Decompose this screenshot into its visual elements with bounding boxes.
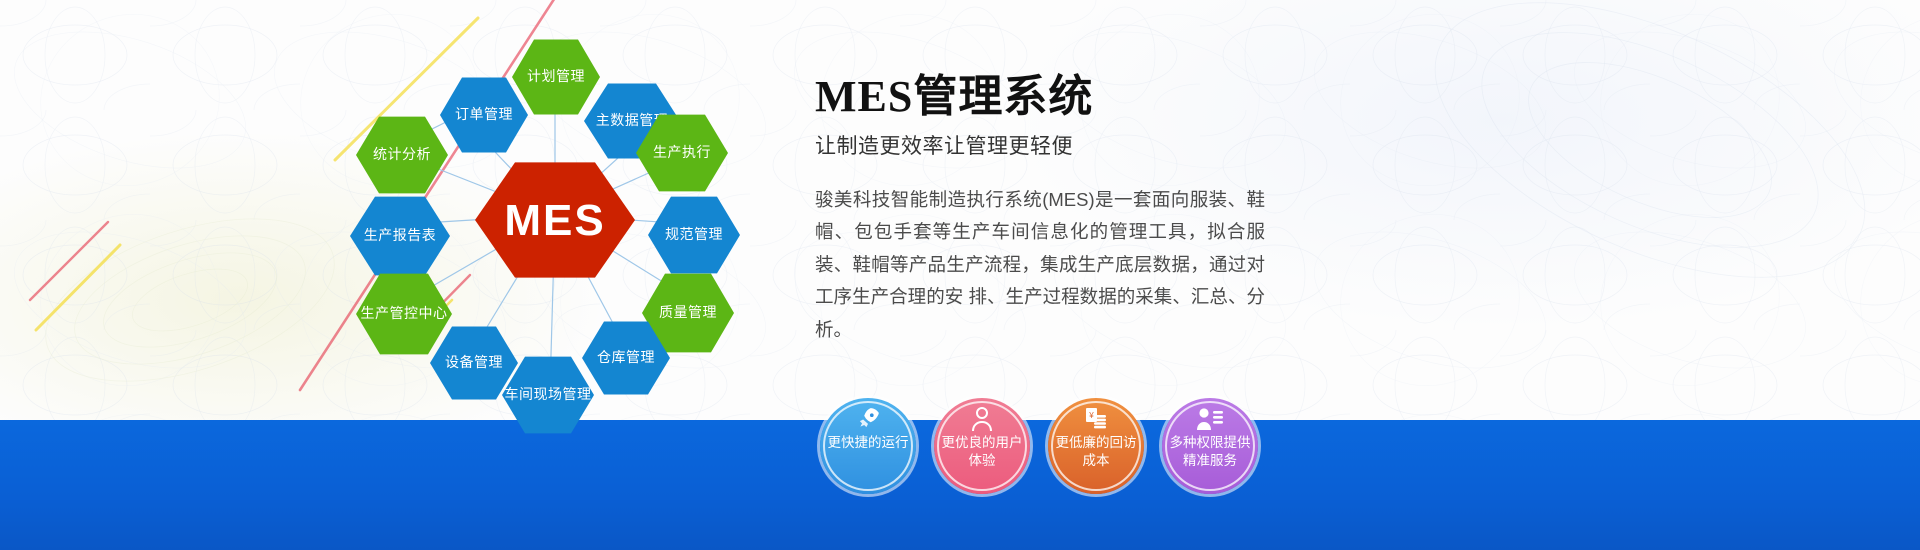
badge-label: 更优良的用户体验 [934, 434, 1030, 470]
money-icon: ¥ [1084, 406, 1108, 432]
hex-node-label: 统计分析 [373, 146, 431, 164]
hex-node-label: 规范管理 [665, 226, 723, 244]
hex-node-label: 仓库管理 [597, 349, 655, 367]
page-description: 骏美科技智能制造执行系统(MES)是一套面向服装、鞋帽、包包手套等生产车间信息化… [815, 184, 1265, 346]
hex-node-label: 生产执行 [653, 144, 711, 162]
mes-hexagon-diagram: MES 计划管理 订单管理 主数据管理 统计分析 生产执行 生产报告表 规范管理… [330, 10, 800, 430]
badge-label: 多种权限提供精准服务 [1162, 434, 1258, 470]
user-icon [970, 406, 994, 432]
feature-badges: 更快捷的运行 更优良的用户体验 [820, 398, 1258, 494]
roles-icon [1196, 406, 1224, 432]
hex-node-label: 订单管理 [455, 106, 513, 124]
hex-node-label: 设备管理 [445, 354, 503, 372]
hex-node-label: 生产管控中心 [361, 305, 448, 323]
rocket-icon [855, 406, 881, 432]
page-title: MES管理系统 [815, 60, 1455, 124]
hex-node-label: 生产报告表 [364, 227, 437, 245]
badge-lower-revisit-cost[interactable]: ¥ 更低廉的回访成本 [1048, 398, 1144, 494]
badge-better-user-experience[interactable]: 更优良的用户体验 [934, 398, 1030, 494]
page-subtitle: 让制造更效率让管理更轻便 [815, 130, 1455, 160]
hex-node-label: 计划管理 [527, 68, 585, 86]
hex-node-label: 质量管理 [659, 304, 717, 322]
svg-text:¥: ¥ [1088, 411, 1094, 420]
text-column: MES管理系统 让制造更效率让管理更轻便 骏美科技智能制造执行系统(MES)是一… [815, 60, 1455, 346]
badge-faster-operation[interactable]: 更快捷的运行 [820, 398, 916, 494]
hex-center-label: MES [504, 193, 605, 248]
hex-node-label: 车间现场管理 [505, 386, 592, 404]
badge-label: 更低廉的回访成本 [1048, 434, 1144, 470]
badge-multi-permission-service[interactable]: 多种权限提供精准服务 [1162, 398, 1258, 494]
mes-banner: MES 计划管理 订单管理 主数据管理 统计分析 生产执行 生产报告表 规范管理… [0, 0, 1920, 550]
badge-label: 更快捷的运行 [822, 434, 915, 452]
